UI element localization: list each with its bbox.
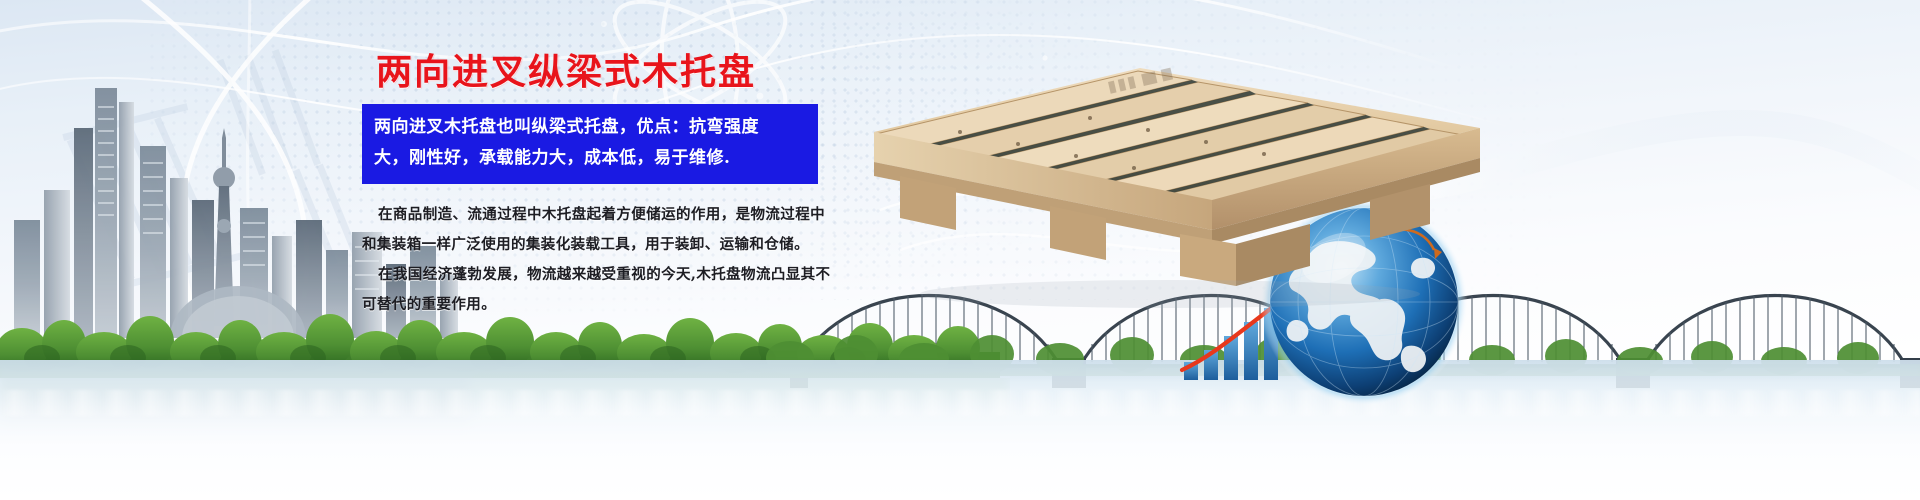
- banner-description: 在商品制造、流通过程中木托盘起着方便储运的作用，是物流过程中 和集装箱一样广泛使…: [362, 200, 832, 320]
- shoreline-blur: [0, 366, 1920, 382]
- earth-globe-icon: [1258, 196, 1470, 408]
- banner-text-column: 两向进叉纵梁式木托盘 两向进叉木托盘也叫纵梁式托盘，优点：抗弯强度 大，刚性好，…: [362, 48, 842, 320]
- dot-matrix-map-right: [820, 0, 1640, 300]
- tree-line-right-icon: [760, 324, 1920, 376]
- city-water-reflection: [0, 376, 470, 436]
- highlight-box: 两向进叉木托盘也叫纵梁式托盘，优点：抗弯强度 大，刚性好，承载能力大，成本低，易…: [362, 104, 818, 184]
- background-decoration-layer: [0, 0, 1920, 500]
- wooden-pallet-image: [840, 58, 1480, 318]
- highlight-line-1: 两向进叉木托盘也叫纵梁式托盘，优点：抗弯强度: [374, 112, 806, 143]
- highlight-line-2: 大，刚性好，承载能力大，成本低，易于维修.: [374, 143, 806, 174]
- growth-bar-chart-icon: [1178, 300, 1298, 380]
- description-line-4: 可替代的重要作用。: [362, 290, 832, 320]
- tree-water-reflection: [0, 378, 1010, 430]
- water-surface: [0, 360, 1920, 500]
- water-sheen: [0, 390, 1920, 416]
- description-line-1: 在商品制造、流通过程中木托盘起着方便储运的作用，是物流过程中: [362, 200, 832, 230]
- tech-swoosh-decoration-icon: [0, 0, 1920, 500]
- banner-title: 两向进叉纵梁式木托盘: [362, 48, 842, 96]
- description-line-2: 和集装箱一样广泛使用的集装化装载工具，用于装卸、运输和仓储。: [362, 230, 832, 260]
- arch-bridge-icon: [790, 258, 1920, 388]
- description-line-3: 在我国经济蓬勃发展，物流越来越受重视的今天,木托盘物流凸显其不: [362, 260, 832, 290]
- promo-banner: 两向进叉纵梁式木托盘 两向进叉木托盘也叫纵梁式托盘，优点：抗弯强度 大，刚性好，…: [0, 0, 1920, 500]
